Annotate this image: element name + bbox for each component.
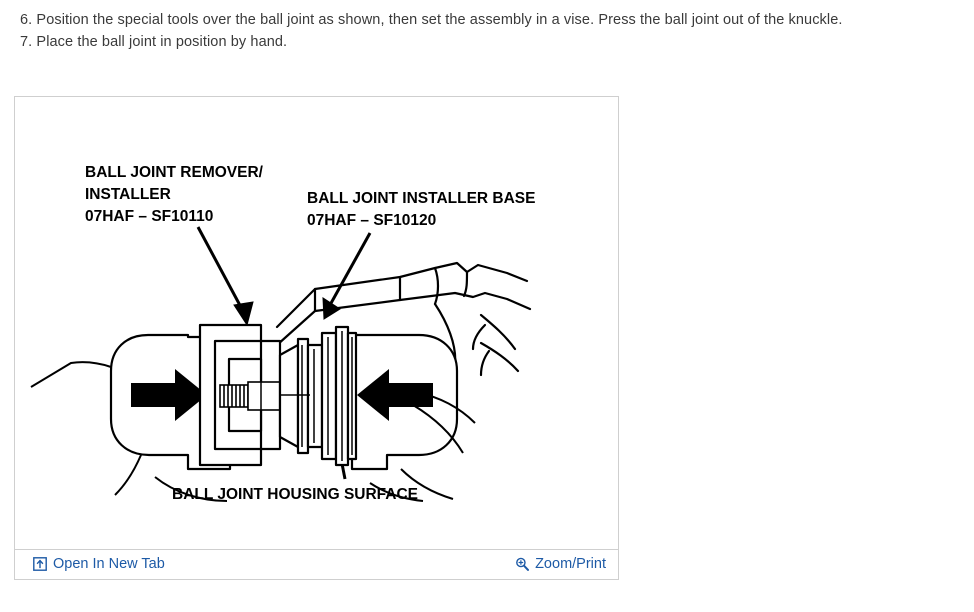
label-ball-joint-remover-line1: BALL JOINT REMOVER/ — [85, 164, 264, 181]
label-ball-joint-remover-part: 07HAF – SF10110 — [85, 208, 213, 225]
zoom-print-link[interactable]: Zoom/Print — [515, 555, 606, 573]
ball-joint-assembly — [280, 339, 322, 453]
zoom-print-label: Zoom/Print — [535, 555, 606, 573]
label-installer-base-part: 07HAF – SF10120 — [307, 212, 436, 229]
ball-joint-installer-base — [322, 327, 356, 465]
label-installer-base-line1: BALL JOINT INSTALLER BASE — [307, 190, 536, 207]
magnifier-plus-icon — [515, 557, 529, 571]
figure-panel: BALL JOINT REMOVER/ INSTALLER 07HAF – SF… — [14, 96, 619, 580]
label-ball-joint-remover-line2: INSTALLER — [85, 186, 171, 203]
instruction-steps: 6. Position the special tools over the b… — [20, 9, 950, 53]
open-in-new-window-icon — [33, 557, 47, 571]
open-in-new-tab-link[interactable]: Open In New Tab — [33, 555, 165, 573]
figure-toolbar: Open In New Tab Zoom/Print — [15, 549, 618, 579]
threaded-shaft — [220, 382, 288, 410]
instruction-step-6: 6. Position the special tools over the b… — [20, 9, 950, 31]
open-in-new-tab-label: Open In New Tab — [53, 555, 165, 573]
figure-image[interactable]: BALL JOINT REMOVER/ INSTALLER 07HAF – SF… — [15, 97, 618, 550]
instruction-step-7: 7. Place the ball joint in position by h… — [20, 31, 950, 53]
